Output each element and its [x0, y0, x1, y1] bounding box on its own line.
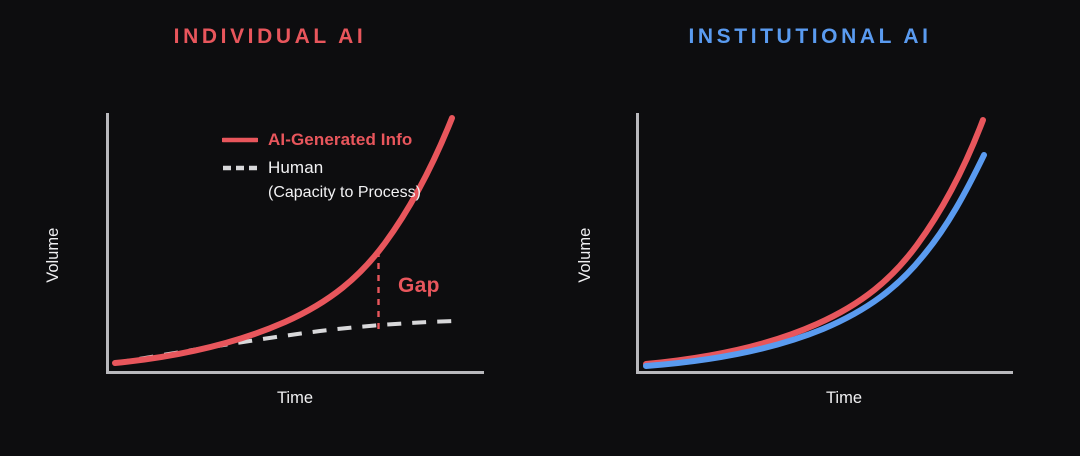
- gap-annotation-label: Gap: [398, 275, 440, 296]
- screenshot-root: INDIVIDUAL AI Volume Time: [0, 0, 1080, 456]
- institutional-capacity-curve: [646, 155, 984, 366]
- solid-line-swatch-icon: [222, 130, 258, 150]
- dashed-line-swatch-icon: [222, 158, 258, 178]
- legend-item-human: Human: [222, 157, 421, 178]
- x-axis-label-individual: Time: [235, 390, 355, 407]
- chart-institutional-ai: [540, 0, 1080, 456]
- legend-item-ai-generated-info: AI-Generated Info: [222, 129, 421, 150]
- panel-institutional-ai: INSTITUTIONAL AI Volume Time: [540, 0, 1080, 456]
- legend-individual-ai: AI-Generated Info Human (Capacity to Pro…: [222, 129, 421, 203]
- legend-label-human: Human: [268, 157, 323, 178]
- panel-individual-ai: INDIVIDUAL AI Volume Time: [0, 0, 540, 456]
- y-axis-label-institutional: Volume: [577, 219, 594, 291]
- chart-individual-ai: [0, 0, 540, 456]
- legend-label-ai-generated-info: AI-Generated Info: [268, 129, 412, 150]
- x-axis-label-institutional: Time: [784, 390, 904, 407]
- y-axis-label-individual: Volume: [45, 219, 62, 291]
- legend-sublabel-human-capacity: (Capacity to Process): [268, 183, 421, 203]
